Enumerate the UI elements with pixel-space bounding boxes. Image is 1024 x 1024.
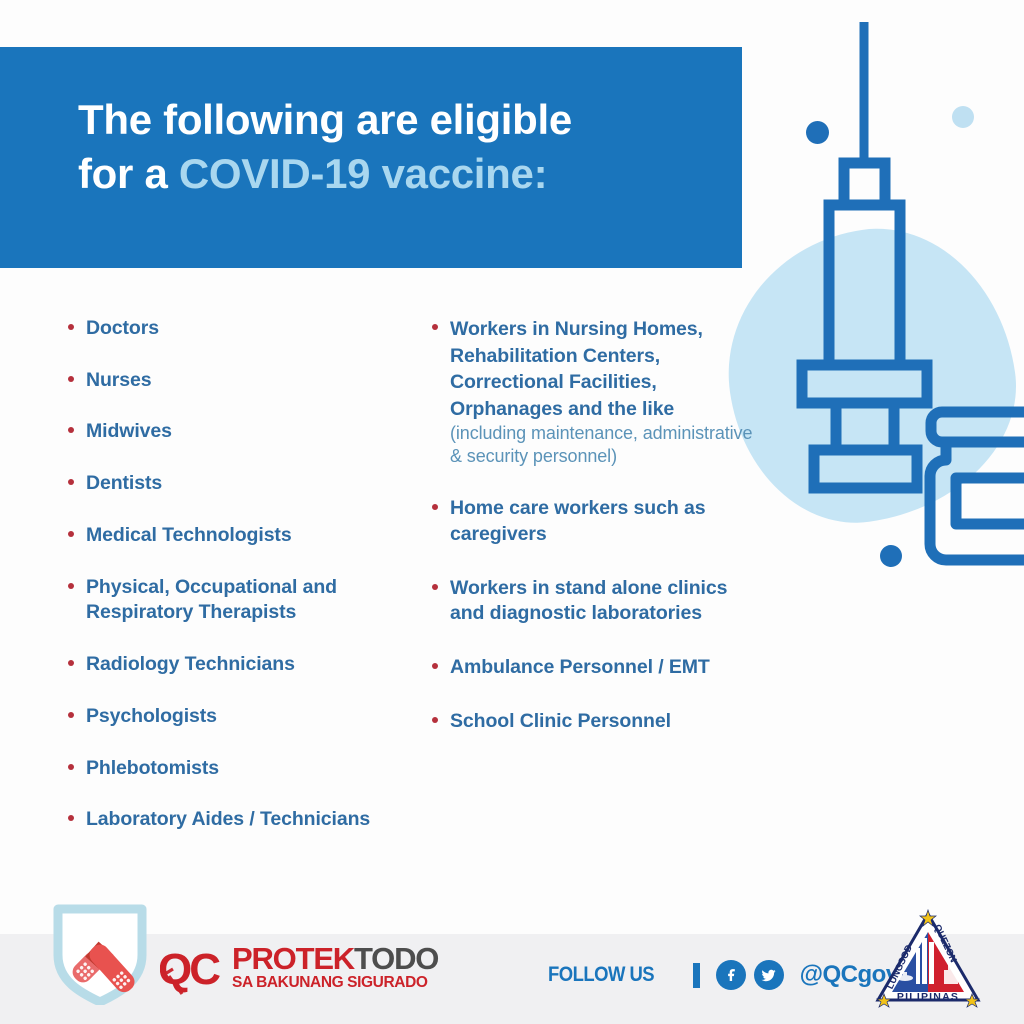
list-item-label: Phlebotomists (86, 756, 428, 782)
list-item-label: Workers in Nursing Homes, Rehabilitation… (450, 316, 762, 422)
list-item: Laboratory Aides / Technicians (68, 807, 428, 833)
seal-text-pilipinas: PILIPINAS (897, 991, 959, 1003)
bullet-icon (68, 815, 74, 821)
bullet-icon (432, 324, 438, 330)
shield-bandage-check-icon (44, 893, 156, 1005)
decorative-dot-light (952, 106, 974, 128)
header-title: The following are eligible for a COVID-1… (78, 93, 718, 201)
list-item-label: Radiology Technicians (86, 652, 428, 678)
list-item-label: School Clinic Personnel (450, 709, 762, 735)
header-line-2-accent: COVID-19 vaccine: (179, 150, 547, 197)
bullet-icon (432, 717, 438, 723)
list-item-label: Ambulance Personnel / EMT (450, 655, 762, 681)
bullet-icon (432, 584, 438, 590)
qc-monogram-icon: QC (160, 942, 228, 996)
decorative-dot-bottom (880, 545, 902, 567)
list-item-subtext: (including maintenance, administrative &… (450, 422, 762, 468)
facebook-icon[interactable] (716, 960, 746, 990)
bullet-icon (68, 583, 74, 589)
list-item: Medical Technologists (68, 523, 428, 549)
list-item: Radiology Technicians (68, 652, 428, 678)
list-item-label: Doctors (86, 316, 428, 342)
list-item: Workers in stand alone clinics and diagn… (432, 576, 762, 627)
qc-logo-protek: PROTEK (232, 941, 354, 976)
list-item: Doctors (68, 316, 428, 342)
list-item-label: Psychologists (86, 704, 428, 730)
follow-us-block: FOLLOW US @QCgov (548, 960, 899, 990)
bullet-icon (432, 663, 438, 669)
list-item: Ambulance Personnel / EMT (432, 655, 762, 681)
bullet-icon (68, 479, 74, 485)
bullet-icon (68, 376, 74, 382)
list-item-label: Workers in stand alone clinics and diagn… (450, 576, 762, 627)
bullet-icon (68, 531, 74, 537)
bullet-icon (68, 660, 74, 666)
list-item: Dentists (68, 471, 428, 497)
eligibility-list-left: Doctors Nurses Midwives Dentists Medical… (68, 316, 428, 859)
list-item-label: Medical Technologists (86, 523, 428, 549)
list-item: Home care workers such as caregivers (432, 496, 762, 547)
infographic-canvas: The following are eligible for a COVID-1… (0, 0, 1024, 1024)
list-item: Workers in Nursing Homes, Rehabilitation… (432, 316, 762, 468)
bullet-icon (68, 712, 74, 718)
divider (693, 963, 700, 988)
qc-protektodo-logo: QC PROTEKTODO SA BAKUNANG SIGURADO (160, 942, 438, 998)
follow-us-label: FOLLOW US (548, 963, 654, 987)
list-item-label: Home care workers such as caregivers (450, 496, 762, 547)
list-item-label: Laboratory Aides / Technicians (86, 807, 428, 833)
qc-monogram-text: QC (160, 945, 220, 994)
list-item-label: Physical, Occupational and Respiratory T… (86, 575, 428, 626)
list-item: Phlebotomists (68, 756, 428, 782)
quezon-city-seal: LUNGSOD QUEZON PILIPINAS (872, 908, 984, 1012)
syringe-icon (724, 0, 1024, 620)
header-line-2-prefix: for a (78, 150, 179, 197)
list-item: Psychologists (68, 704, 428, 730)
eligibility-list-right: Workers in Nursing Homes, Rehabilitation… (432, 316, 762, 763)
qc-logo-tagline: SA BAKUNANG SIGURADO (232, 974, 438, 991)
list-item: Midwives (68, 419, 428, 445)
bullet-icon (68, 324, 74, 330)
decorative-dot-dark (806, 121, 829, 144)
list-item: Physical, Occupational and Respiratory T… (68, 575, 428, 626)
bullet-icon (68, 764, 74, 770)
header-line-2: for a COVID-19 vaccine: (78, 147, 718, 201)
header-line-1: The following are eligible (78, 93, 718, 147)
list-item-label: Dentists (86, 471, 428, 497)
list-item: School Clinic Personnel (432, 709, 762, 735)
list-item: Nurses (68, 368, 428, 394)
qc-logo-wordmark: PROTEKTODO SA BAKUNANG SIGURADO (232, 942, 438, 991)
bullet-icon (432, 504, 438, 510)
twitter-icon[interactable] (754, 960, 784, 990)
list-item-label: Midwives (86, 419, 428, 445)
bullet-icon (68, 427, 74, 433)
qc-logo-line1: PROTEKTODO (232, 944, 438, 973)
vaccine-artwork (724, 0, 1024, 620)
header-banner: The following are eligible for a COVID-1… (0, 47, 742, 268)
qc-logo-todo: TODO (354, 941, 438, 976)
list-item-label: Nurses (86, 368, 428, 394)
background-blob (724, 212, 1024, 539)
